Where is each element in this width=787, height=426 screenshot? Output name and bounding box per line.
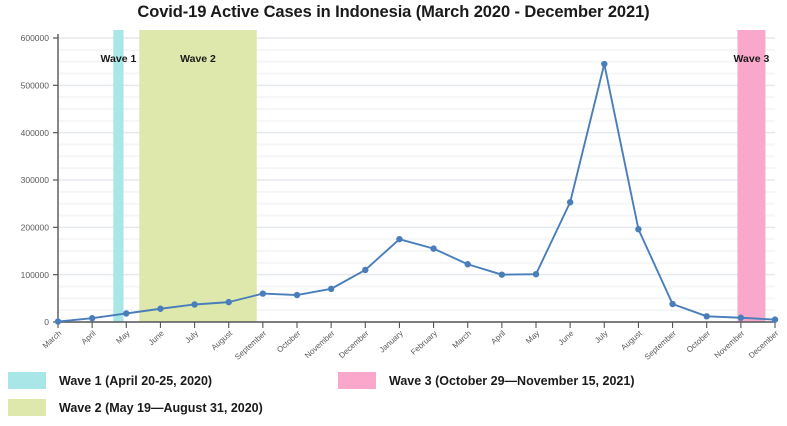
data-point[interactable] bbox=[260, 290, 266, 296]
data-point[interactable] bbox=[499, 271, 505, 277]
wave-band-label-wave1: Wave 1 bbox=[101, 53, 137, 65]
x-axis-tick-label: August bbox=[210, 328, 235, 352]
x-axis-tick-label: September bbox=[233, 329, 268, 362]
y-axis-tick-label: 100000 bbox=[21, 270, 50, 280]
data-point[interactable] bbox=[533, 271, 539, 277]
x-axis-tick-label: May bbox=[524, 329, 541, 346]
chart-legend: Wave 1 (April 20-25, 2020) Wave 2 (May 1… bbox=[0, 368, 787, 426]
data-point[interactable] bbox=[704, 313, 710, 319]
data-point[interactable] bbox=[226, 299, 232, 305]
data-point[interactable] bbox=[396, 236, 402, 242]
wave-band-label-wave2: Wave 2 bbox=[180, 53, 216, 65]
wave-band-label-wave3: Wave 3 bbox=[734, 53, 770, 65]
legend-label-wave1: Wave 1 (April 20-25, 2020) bbox=[59, 374, 212, 388]
x-axis-tick-label: November bbox=[303, 329, 337, 361]
y-axis-tick-label: 300000 bbox=[21, 175, 50, 185]
legend-swatch-wave3 bbox=[338, 372, 376, 389]
legend-item-wave2[interactable]: Wave 2 (May 19—August 31, 2020) bbox=[8, 399, 263, 416]
y-axis-tick-label: 500000 bbox=[21, 81, 50, 91]
y-axis-tick-label: 400000 bbox=[21, 128, 50, 138]
data-point[interactable] bbox=[89, 315, 95, 321]
data-point[interactable] bbox=[123, 310, 129, 316]
legend-swatch-wave2 bbox=[8, 399, 46, 416]
data-point[interactable] bbox=[738, 315, 744, 321]
x-axis-tick-label: October bbox=[685, 329, 712, 355]
x-axis-tick-label: June bbox=[147, 328, 166, 347]
y-axis-tick-label: 200000 bbox=[21, 223, 50, 233]
x-axis-tick-label: November bbox=[713, 329, 747, 361]
x-axis-tick-label: April bbox=[489, 329, 507, 347]
data-point[interactable] bbox=[601, 61, 607, 67]
x-axis-tick-label: February bbox=[409, 329, 439, 357]
wave-band-wave1 bbox=[113, 30, 123, 322]
data-point[interactable] bbox=[465, 261, 471, 267]
x-axis-tick-label: December bbox=[747, 329, 781, 361]
wave-band-wave2 bbox=[139, 30, 256, 322]
x-axis-tick-label: June bbox=[557, 328, 576, 347]
data-point[interactable] bbox=[567, 199, 573, 205]
data-point[interactable] bbox=[157, 306, 163, 312]
wave-band-wave3 bbox=[737, 30, 765, 322]
line-chart: 0100000200000300000400000500000600000Mar… bbox=[0, 0, 787, 370]
data-point[interactable] bbox=[430, 245, 436, 251]
legend-label-wave2: Wave 2 (May 19—August 31, 2020) bbox=[59, 401, 263, 415]
x-axis-tick-label: July bbox=[183, 329, 200, 345]
x-axis-tick-label: March bbox=[41, 329, 64, 351]
x-axis-tick-label: December bbox=[337, 329, 371, 361]
legend-item-wave3[interactable]: Wave 3 (October 29—November 15, 2021) bbox=[338, 372, 634, 389]
x-axis-tick-label: May bbox=[114, 329, 131, 346]
legend-swatch-wave1 bbox=[8, 372, 46, 389]
x-axis-tick-label: August bbox=[619, 328, 644, 352]
data-point[interactable] bbox=[294, 292, 300, 298]
legend-label-wave3: Wave 3 (October 29—November 15, 2021) bbox=[389, 374, 634, 388]
y-axis-tick-label: 600000 bbox=[21, 33, 50, 43]
x-axis-tick-label: July bbox=[593, 329, 610, 345]
legend-item-wave1[interactable]: Wave 1 (April 20-25, 2020) bbox=[8, 372, 212, 389]
x-axis-tick-label: October bbox=[275, 329, 302, 355]
data-point[interactable] bbox=[191, 301, 197, 307]
y-axis-tick-label: 0 bbox=[44, 317, 49, 327]
chart-plot-area: 0100000200000300000400000500000600000Mar… bbox=[0, 0, 787, 370]
x-axis-tick-label: January bbox=[378, 329, 405, 355]
data-point[interactable] bbox=[328, 286, 334, 292]
data-point[interactable] bbox=[55, 318, 61, 324]
data-point[interactable] bbox=[669, 301, 675, 307]
x-axis-tick-label: April bbox=[80, 329, 98, 347]
data-point[interactable] bbox=[772, 316, 778, 322]
x-axis-tick-label: March bbox=[451, 329, 474, 351]
data-point[interactable] bbox=[635, 226, 641, 232]
x-axis-tick-label: September bbox=[643, 329, 678, 362]
data-point[interactable] bbox=[362, 267, 368, 273]
